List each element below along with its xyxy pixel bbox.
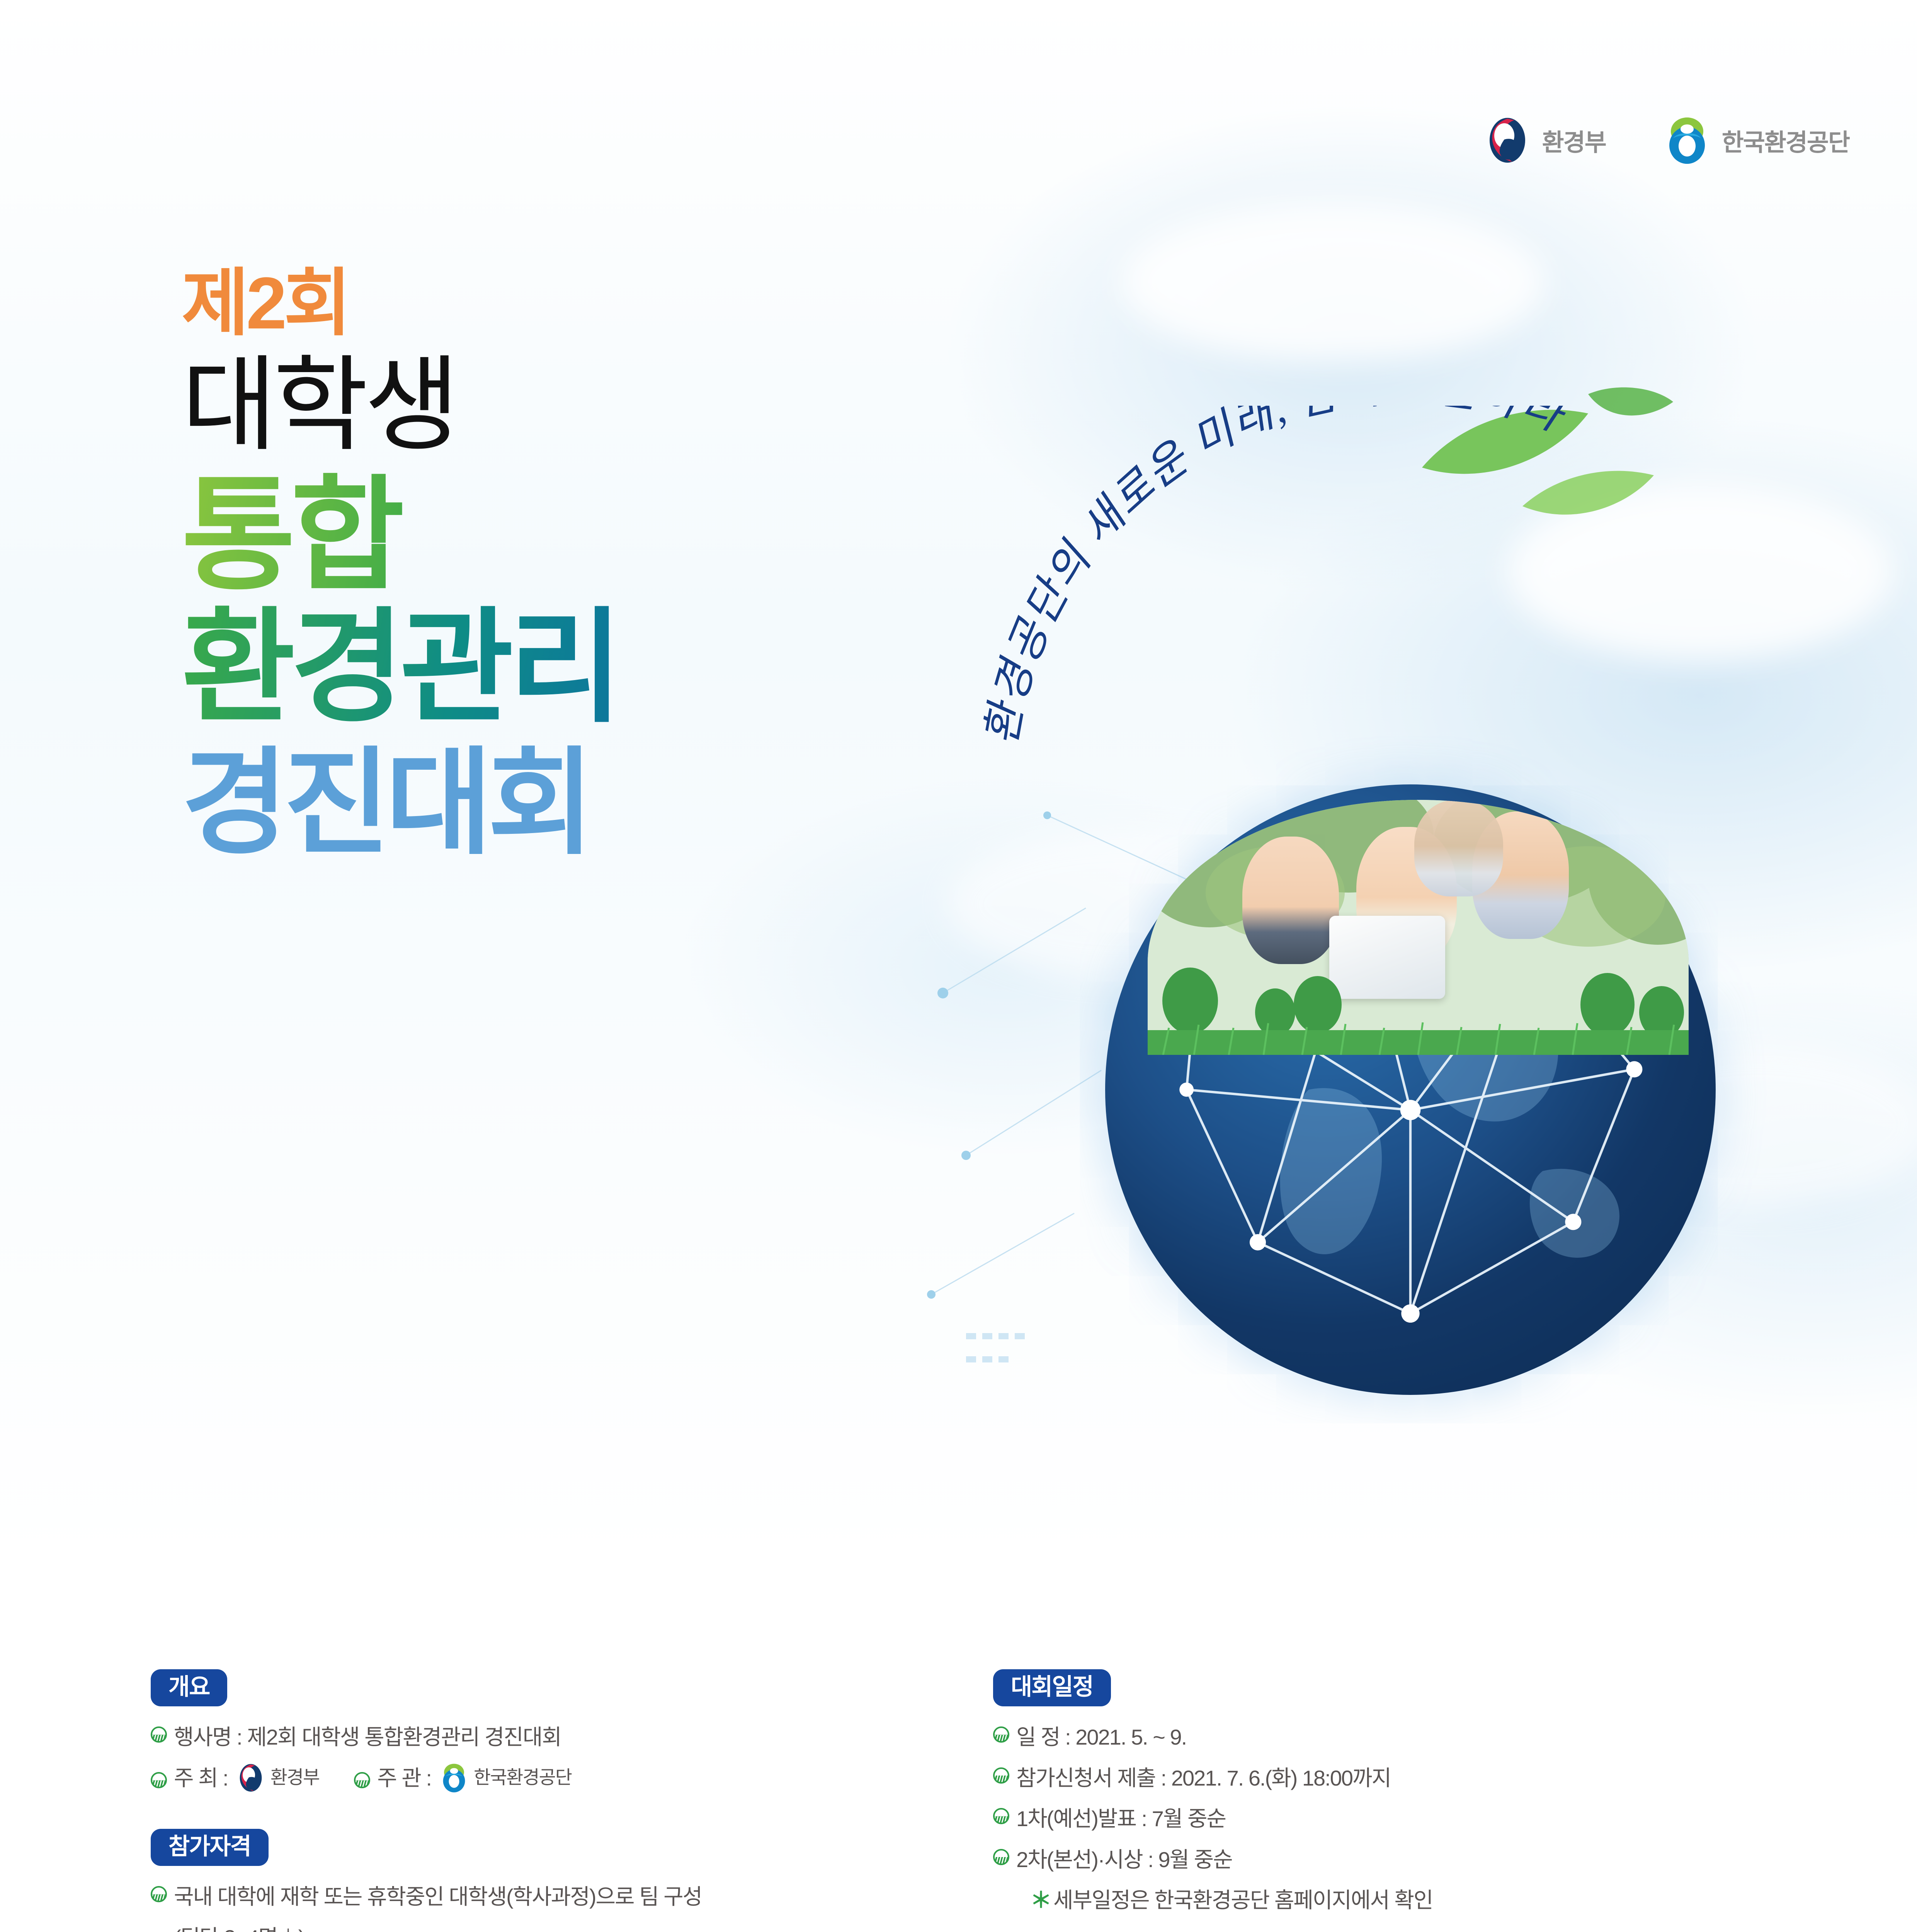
section-overview: 개요 행사명 : 제2회 대학생 통합환경관리 경진대회 주 최 : (151, 1669, 947, 1793)
info-right-column: 대회일정 일 정 : 2021. 5. ~ 9. 참가신청서 제출 : 2021… (993, 1669, 1805, 1932)
eligibility-line1: 국내 대학에 재학 또는 휴학중인 대학생(학사과정)으로 팀 구성 (174, 1881, 702, 1912)
schedule-item: 1차(예선)발표 : 7월 중순 (1016, 1803, 1226, 1834)
section-eligibility: 참가자격 국내 대학에 재학 또는 휴학중인 대학생(학사과정)으로 팀 구성 … (151, 1829, 947, 1932)
list-item: 2차(본선)·시상 : 9월 중순 (993, 1844, 1805, 1875)
schedule-note-row: ＊세부일정은 한국환경공단 홈페이지에서 확인 (993, 1885, 1805, 1916)
bullet-icon (993, 1849, 1009, 1865)
overview-event-name: 행사명 : 제2회 대학생 통합환경관리 경진대회 (174, 1722, 561, 1753)
hero-tagline-text: 환경공단의 새로운 미래, 함께 도전하라 (977, 406, 1572, 748)
keco-oval-icon (440, 1763, 468, 1793)
bullet-icon (993, 1808, 1009, 1824)
ministry-of-environment-logo: 환경부 (1484, 117, 1606, 163)
schedule-item: 2차(본선)·시상 : 9월 중순 (1016, 1844, 1232, 1875)
list-item: 주 최 : 환경부 주 관 : (151, 1763, 947, 1794)
eligibility-line2: (팀당 3~4명＊) (151, 1922, 947, 1932)
schedule-note: 세부일정은 한국환경공단 홈페이지에서 확인 (1053, 1888, 1433, 1912)
overview-host-value: 환경부 (270, 1765, 319, 1791)
bullet-icon (151, 1772, 167, 1788)
grass-and-trees-icon (1148, 958, 1689, 1055)
section-badge-overview: 개요 (151, 1669, 227, 1706)
bullet-icon (993, 1726, 1009, 1743)
overview-organizer-logo: 한국환경공단 (440, 1763, 572, 1793)
information-area: 개요 행사명 : 제2회 대학생 통합환경관리 경진대회 주 최 : (0, 1669, 1917, 1932)
ministry-taegeuk-icon (236, 1764, 265, 1792)
section-badge-schedule: 대회일정 (993, 1669, 1111, 1706)
bullet-icon (354, 1772, 370, 1788)
schedule-item: 참가신청서 제출 : 2021. 7. 6.(화) 18:00까지 (1016, 1763, 1391, 1794)
list-item: 1차(예선)발표 : 7월 중순 (993, 1803, 1805, 1834)
asterisk-icon: ＊ (1030, 1888, 1051, 1912)
bullet-icon (993, 1767, 1009, 1784)
bullet-icon (151, 1886, 167, 1902)
ministry-taegeuk-icon (1484, 117, 1531, 163)
bullet-icon (151, 1726, 167, 1743)
hero-people-photo (1148, 800, 1689, 1055)
hero-artwork: 환경공단의 새로운 미래, 함께 도전하라 (920, 406, 1886, 1507)
ministry-logo-label: 환경부 (1542, 123, 1606, 158)
list-item: 국내 대학에 재학 또는 휴학중인 대학생(학사과정)으로 팀 구성 (151, 1881, 947, 1912)
overview-host-label: 주 최 : (174, 1763, 228, 1794)
list-item: 행사명 : 제2회 대학생 통합환경관리 경진대회 (151, 1722, 947, 1753)
svg-text:환경공단의 새로운 미래, 함께 도전하라: 환경공단의 새로운 미래, 함께 도전하라 (977, 406, 1572, 748)
person-figure (1242, 837, 1339, 964)
overview-host-logo: 환경부 (236, 1764, 319, 1792)
list-item: 참가신청서 제출 : 2021. 7. 6.(화) 18:00까지 (993, 1763, 1805, 1794)
list-item: 일 정 : 2021. 5. ~ 9. (993, 1722, 1805, 1753)
schedule-item: 일 정 : 2021. 5. ~ 9. (1016, 1722, 1186, 1753)
section-badge-eligibility: 참가자격 (151, 1829, 269, 1866)
section-schedule: 대회일정 일 정 : 2021. 5. ~ 9. 참가신청서 제출 : 2021… (993, 1669, 1805, 1916)
overview-organizer-label: 주 관 : (377, 1763, 431, 1794)
keco-logo-label: 한국환경공단 (1722, 123, 1849, 158)
cloud-shape (1121, 201, 1546, 363)
title-edition: 제2회 (182, 267, 1109, 340)
keco-oval-icon (1664, 116, 1710, 165)
header-logos: 환경부 한국환경공단 (1484, 116, 1849, 165)
person-figure (1414, 800, 1503, 896)
overview-organizer-value: 한국환경공단 (474, 1765, 572, 1791)
keco-logo: 한국환경공단 (1664, 116, 1849, 165)
info-left-column: 개요 행사명 : 제2회 대학생 통합환경관리 경진대회 주 최 : (151, 1669, 947, 1932)
